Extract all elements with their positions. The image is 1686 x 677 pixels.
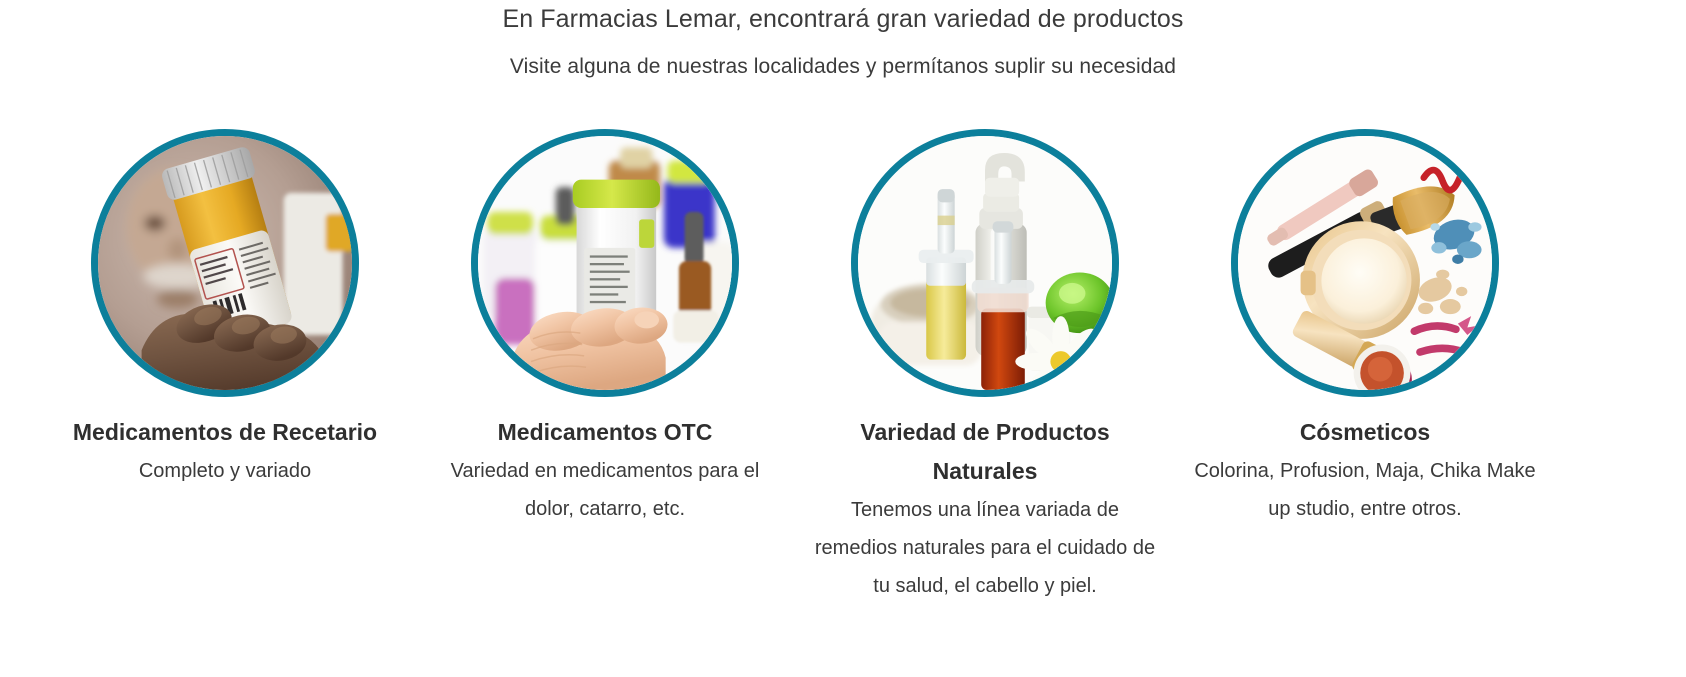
product-cards-row: Medicamentos de Recetario Completo y var…: [0, 129, 1686, 605]
card-text: Colorina, Profusion, Maja, Chika Make up…: [1189, 452, 1541, 528]
prescription-medication-photo: [91, 129, 359, 397]
product-card-medicamentos-de-recetario[interactable]: Medicamentos de Recetario Completo y var…: [35, 129, 415, 490]
cosmetics-photo: [1231, 129, 1499, 397]
product-card-medicamentos-otc[interactable]: Medicamentos OTC Variedad en medicamento…: [415, 129, 795, 528]
card-text: Completo y variado: [139, 452, 311, 490]
otc-medication-photo: [471, 129, 739, 397]
section-header: En Farmacias Lemar, encontrará gran vari…: [0, 0, 1686, 82]
card-text: Variedad en medicamentos para el dolor, …: [429, 452, 781, 528]
card-text: Tenemos una línea variada de remedios na…: [809, 491, 1161, 605]
card-title: Medicamentos OTC: [498, 413, 713, 452]
natural-products-photo: [851, 129, 1119, 397]
products-section: En Farmacias Lemar, encontrará gran vari…: [0, 0, 1686, 677]
card-title: Medicamentos de Recetario: [73, 413, 377, 452]
product-card-cosmeticos[interactable]: Cósmeticos Colorina, Profusion, Maja, Ch…: [1175, 129, 1555, 528]
card-title: Variedad de Productos Naturales: [820, 413, 1150, 491]
product-card-productos-naturales[interactable]: Variedad de Productos Naturales Tenemos …: [795, 129, 1175, 605]
page-subtitle: Visite alguna de nuestras localidades y …: [0, 52, 1686, 82]
card-title: Cósmeticos: [1300, 413, 1430, 452]
page-title: En Farmacias Lemar, encontrará gran vari…: [0, 2, 1686, 36]
